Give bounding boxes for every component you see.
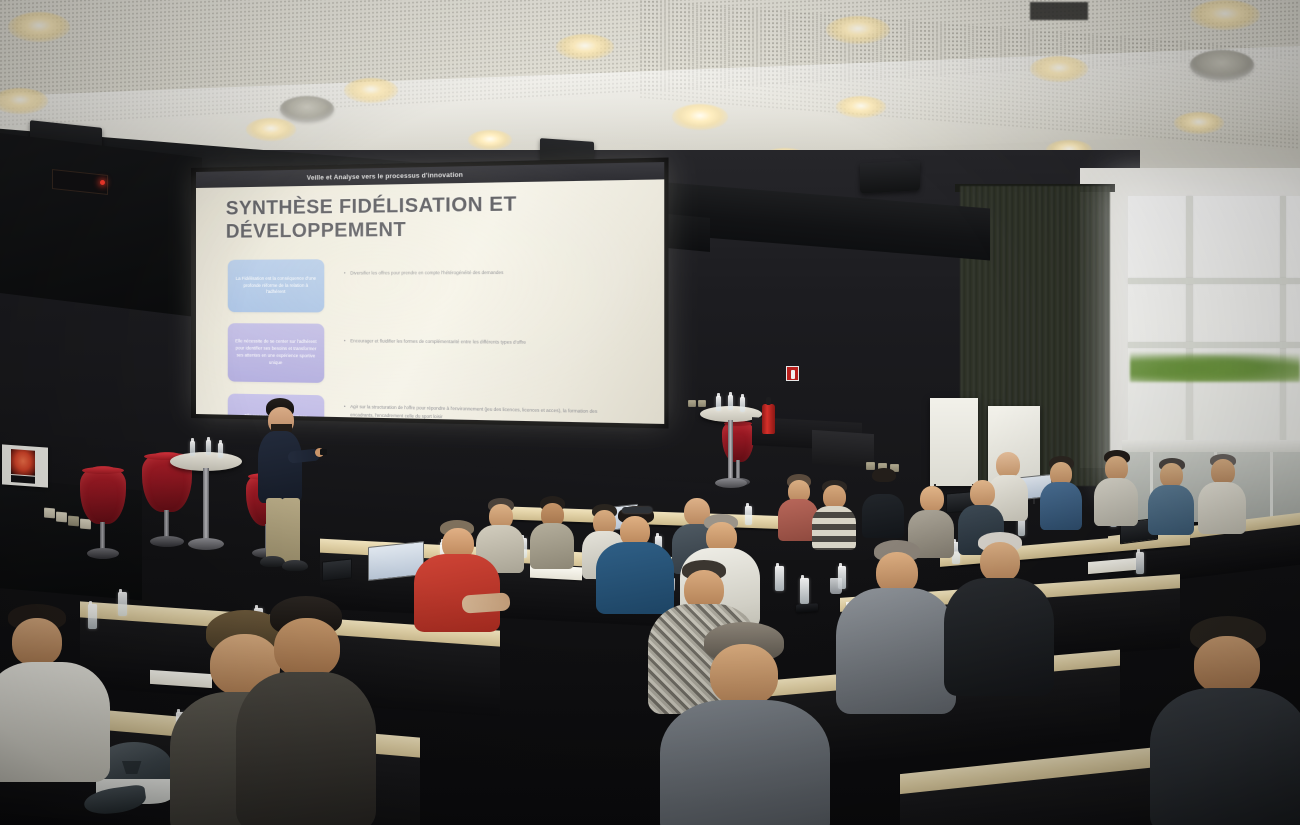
- power-led-indicator: [100, 180, 105, 185]
- window: [1128, 196, 1300, 472]
- ceiling-downlight: [556, 34, 614, 60]
- wall-outlet: [698, 400, 706, 407]
- hvac-diffuser: [1190, 50, 1254, 80]
- table-base: [715, 478, 747, 488]
- ceiling-downlight: [836, 96, 886, 118]
- wall-control-panel: [0, 132, 202, 318]
- slide-bullet: Diversifier les offres pour prendre en c…: [344, 268, 605, 277]
- attendee: [1094, 450, 1138, 524]
- wall-panel-divider: [1270, 452, 1273, 522]
- attendee: [812, 480, 856, 546]
- water-bottle: [118, 592, 127, 616]
- ceiling-downlight: [8, 12, 70, 42]
- attendee-torso: [1198, 482, 1246, 534]
- flipchart: [930, 398, 978, 486]
- water-bottle: [728, 395, 733, 410]
- wall-outlet: [44, 508, 55, 519]
- slide-box-1: La Fidélisation est la conséquence d'une…: [228, 259, 324, 312]
- attendee-torso: [1040, 482, 1082, 530]
- attendee-torso: [0, 662, 110, 782]
- attendee: [1148, 458, 1194, 532]
- chair-seat: [80, 466, 126, 524]
- ceiling-speaker: [860, 160, 920, 193]
- water-bottle: [206, 440, 211, 455]
- attendee-torso: [1148, 485, 1194, 535]
- attendee-head: [980, 542, 1020, 582]
- window-foliage: [1130, 348, 1300, 382]
- table-stem: [728, 420, 733, 482]
- ceiling-downlight: [1030, 56, 1088, 82]
- projection-screen: Veille et Analyse vers le processus d'in…: [196, 162, 664, 424]
- conference-room-photo: Veille et Analyse vers le processus d'in…: [0, 0, 1300, 825]
- hvac-diffuser: [280, 96, 334, 122]
- attendee-head: [12, 618, 62, 666]
- table-stem: [203, 468, 209, 542]
- attendee-head: [920, 486, 944, 512]
- slide-box-2: Elle nécessite de se center sur l'adhére…: [228, 323, 324, 383]
- wall-outlet: [68, 516, 79, 527]
- attendee-dark-shirt: [944, 532, 1054, 692]
- high-table: [170, 452, 242, 558]
- ceiling-downlight: [246, 118, 296, 141]
- window-mullion: [1186, 196, 1193, 472]
- chair-rim: [82, 467, 124, 474]
- wall-outlet: [56, 512, 67, 523]
- ceiling-downlight: [672, 104, 728, 130]
- water-bottle: [1136, 552, 1144, 574]
- attendee-torso: [660, 700, 830, 825]
- slide-title: SYNTHÈSE FIDÉLISATION ET DÉVELOPPEMENT: [226, 191, 621, 244]
- laptop-screen: [322, 558, 352, 581]
- poster-image: [11, 449, 35, 476]
- presenter-clicker[interactable]: [320, 449, 327, 455]
- water-bottle: [716, 396, 721, 411]
- laptop[interactable]: [322, 558, 352, 581]
- attendee: [862, 468, 904, 534]
- ceiling-downlight: [344, 78, 398, 103]
- attendee-torso: [530, 523, 574, 569]
- slide-bullets-1: Diversifier les offres pour prendre en c…: [344, 268, 605, 277]
- side-table: [812, 430, 874, 468]
- attendee-head: [1194, 636, 1260, 694]
- window-mullion: [1128, 278, 1300, 284]
- attendee-foreground-white: [0, 604, 110, 774]
- attendee-red-shirt: [414, 520, 500, 630]
- fire-extinguisher-sign: [786, 366, 799, 381]
- chair-base: [87, 548, 119, 559]
- presenter-shoe-right: [282, 560, 308, 571]
- water-bottle: [218, 443, 223, 458]
- window-mullion: [1280, 196, 1286, 472]
- attendee-grey-shirt: [836, 540, 956, 710]
- wall-outlet: [688, 400, 696, 407]
- ceiling-downlight: [1190, 0, 1260, 30]
- presenter-torso: [258, 431, 302, 503]
- attendee-foreground-dark: [236, 596, 376, 825]
- ceiling-downlight: [826, 16, 890, 44]
- attendee-torso: [862, 494, 904, 538]
- table-base: [188, 538, 224, 550]
- attendee-head: [710, 644, 778, 706]
- attendee-foreground-right: [660, 622, 830, 825]
- attendee-head: [970, 480, 995, 507]
- attendee-torso: [1094, 478, 1138, 526]
- smartphone[interactable]: [796, 603, 818, 613]
- presenter-leg-left: [266, 498, 283, 560]
- slide-body: SYNTHÈSE FIDÉLISATION ET DÉVELOPPEMENT L…: [196, 179, 664, 424]
- ceiling-downlight: [1174, 112, 1224, 134]
- attendee: [1040, 456, 1082, 528]
- slide-bullet: Encourager et fluidifier les formes de c…: [344, 337, 605, 347]
- water-bottle: [740, 397, 745, 412]
- attendee-foreground-far-right: [1150, 616, 1300, 825]
- presenter-leg-right: [282, 498, 300, 562]
- poster-caption-bar: [11, 475, 35, 484]
- water-bottle: [800, 578, 809, 604]
- presenter: [252, 398, 322, 583]
- water-bottle: [775, 566, 784, 591]
- attendee-torso: [944, 578, 1054, 696]
- ceiling-vent: [1030, 2, 1088, 20]
- slide-bullets-2: Encourager et fluidifier les formes de c…: [344, 337, 605, 347]
- water-bottle: [190, 441, 195, 456]
- fire-extinguisher: [762, 404, 775, 434]
- attendee-arm: [461, 592, 510, 613]
- attendee-torso: [236, 672, 376, 825]
- red-chair[interactable]: [80, 466, 126, 566]
- slide-header-text: Veille et Analyse vers le processus d'in…: [196, 171, 463, 183]
- flipchart-paper: [930, 398, 978, 486]
- attendee-head: [274, 618, 340, 678]
- attendee-torso: [836, 588, 956, 714]
- ceiling-downlight: [468, 130, 512, 150]
- wall-poster: [2, 444, 48, 487]
- attendee: [530, 496, 574, 566]
- attendee-torso: [1150, 688, 1300, 825]
- sunglasses-icon: [622, 507, 652, 513]
- attendee: [1198, 454, 1246, 532]
